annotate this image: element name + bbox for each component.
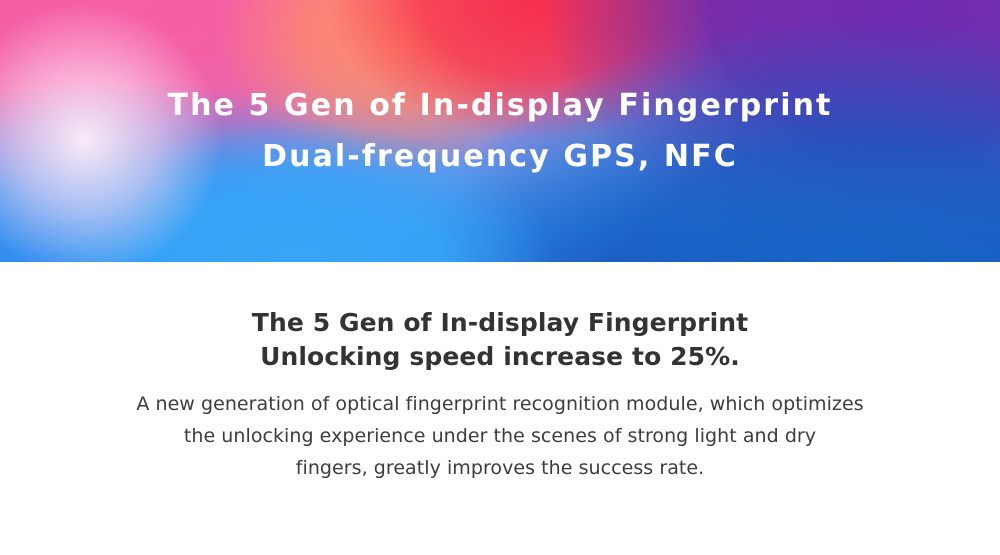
feature-body-text: A new generation of optical fingerprint …: [60, 388, 940, 484]
hero-banner: The 5 Gen of In-display Fingerprint Dual…: [0, 0, 1000, 262]
hero-banner-text-block: The 5 Gen of In-display Fingerprint Dual…: [0, 0, 1000, 262]
feature-description-section: The 5 Gen of In-display Fingerprint Unlo…: [0, 262, 1000, 555]
hero-headline-line-2: Dual-frequency GPS, NFC: [262, 131, 738, 182]
feature-body-line-1: A new generation of optical fingerprint …: [60, 388, 940, 420]
hero-headline-line-1: The 5 Gen of In-display Fingerprint: [168, 80, 833, 131]
feature-body-line-2: the unlocking experience under the scene…: [60, 420, 940, 452]
promo-page: The 5 Gen of In-display Fingerprint Dual…: [0, 0, 1000, 555]
feature-body-line-3: fingers, greatly improves the success ra…: [60, 452, 940, 484]
feature-heading-line-2: Unlocking speed increase to 25%.: [252, 340, 748, 374]
feature-heading-line-1: The 5 Gen of In-display Fingerprint: [252, 306, 748, 340]
feature-heading: The 5 Gen of In-display Fingerprint Unlo…: [252, 306, 748, 374]
